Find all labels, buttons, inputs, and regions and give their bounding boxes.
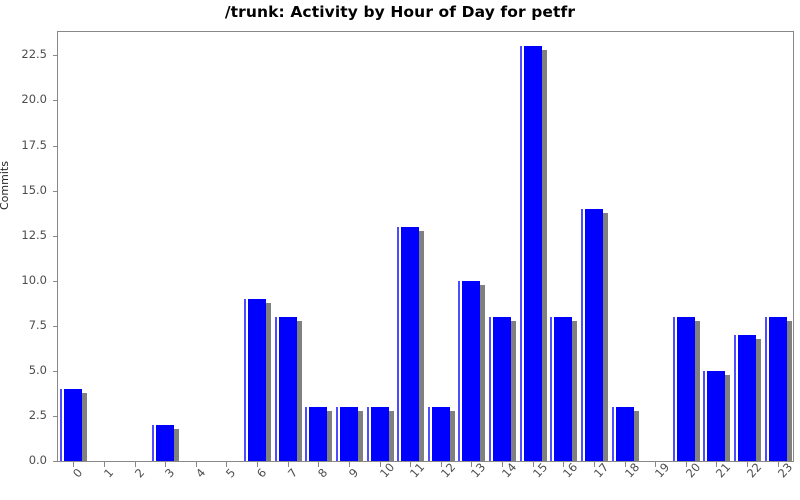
x-axis-tick-label: 0 xyxy=(70,466,85,481)
bar-highlight xyxy=(550,317,552,461)
bar-body xyxy=(401,227,419,461)
y-axis-label: Commits xyxy=(0,161,11,210)
bar-highlight xyxy=(458,281,460,461)
y-axis-tick-label: 15.0 xyxy=(21,183,47,197)
bar[interactable] xyxy=(554,317,577,461)
bar-body xyxy=(156,425,174,461)
x-axis-tick-label: 8 xyxy=(315,466,330,481)
y-axis-tick-mark xyxy=(53,236,57,237)
bar-body xyxy=(432,407,450,461)
bar-highlight xyxy=(520,46,522,461)
bar-body xyxy=(616,407,634,461)
y-axis-tick-label: 17.5 xyxy=(21,138,47,152)
bar[interactable] xyxy=(769,317,792,461)
y-axis-tick-label: 22.5 xyxy=(21,47,47,61)
bar[interactable] xyxy=(156,425,179,461)
y-axis-tick-label: 20.0 xyxy=(21,92,47,106)
y-axis-tick-mark xyxy=(53,326,57,327)
bar-highlight xyxy=(703,371,705,461)
x-axis-tick-label: 9 xyxy=(346,466,361,481)
y-axis-tick-mark xyxy=(53,191,57,192)
y-axis-tick-mark xyxy=(53,371,57,372)
bar-body xyxy=(309,407,327,461)
x-axis-tick-label: 5 xyxy=(223,466,238,481)
x-axis-tick-label: 4 xyxy=(193,466,208,481)
bar-body xyxy=(340,407,358,461)
bar[interactable] xyxy=(64,389,87,461)
y-axis-tick-mark xyxy=(53,461,57,462)
y-axis-tick-label: 12.5 xyxy=(21,228,47,242)
bar[interactable] xyxy=(371,407,394,461)
x-axis-tick-label: 6 xyxy=(254,466,269,481)
bar-body xyxy=(279,317,297,461)
bar-highlight xyxy=(765,317,767,461)
bar-body xyxy=(707,371,725,461)
bar-highlight xyxy=(734,335,736,461)
bar[interactable] xyxy=(707,371,730,461)
bar[interactable] xyxy=(279,317,302,461)
bar-body xyxy=(677,317,695,461)
y-axis-tick-mark xyxy=(53,55,57,56)
x-axis-tick-label: 3 xyxy=(162,466,177,481)
bar[interactable] xyxy=(248,299,271,461)
bar[interactable] xyxy=(432,407,455,461)
bar[interactable] xyxy=(677,317,700,461)
y-axis-tick-label: 7.5 xyxy=(29,318,47,332)
y-axis-tick-mark xyxy=(53,416,57,417)
bar-highlight xyxy=(367,407,369,461)
bar-body xyxy=(462,281,480,461)
bar-highlight xyxy=(673,317,675,461)
bar-body xyxy=(64,389,82,461)
bar-highlight xyxy=(275,317,277,461)
bar-highlight xyxy=(305,407,307,461)
x-axis-tick-label: 1 xyxy=(101,466,116,481)
bar-highlight xyxy=(489,317,491,461)
y-axis-tick-label: 10.0 xyxy=(21,273,47,287)
bar[interactable] xyxy=(738,335,761,461)
bar[interactable] xyxy=(493,317,516,461)
bar-highlight xyxy=(244,299,246,461)
y-axis-tick-label: 2.5 xyxy=(29,408,47,422)
bar-body xyxy=(493,317,511,461)
bar[interactable] xyxy=(401,227,424,461)
bar-highlight xyxy=(60,389,62,461)
chart-page: /trunk: Activity by Hour of Day for petf… xyxy=(0,0,800,500)
bar-series xyxy=(58,32,793,461)
bar-body xyxy=(371,407,389,461)
y-axis-tick-label: 5.0 xyxy=(29,363,47,377)
bar-highlight xyxy=(612,407,614,461)
y-axis-tick-mark xyxy=(53,100,57,101)
y-axis-tick-label: 0.0 xyxy=(29,453,47,467)
bar-body xyxy=(554,317,572,461)
bar[interactable] xyxy=(340,407,363,461)
y-axis-tick-mark xyxy=(53,146,57,147)
bar[interactable] xyxy=(616,407,639,461)
bar[interactable] xyxy=(585,209,608,461)
x-axis-tick-label: 7 xyxy=(285,466,300,481)
bar-body xyxy=(248,299,266,461)
bar-highlight xyxy=(336,407,338,461)
bar-body xyxy=(524,46,542,461)
bar[interactable] xyxy=(309,407,332,461)
bar-body xyxy=(585,209,603,461)
x-axis-tick-label: 2 xyxy=(132,466,147,481)
y-axis-tick-mark xyxy=(53,281,57,282)
bar-highlight xyxy=(428,407,430,461)
bar[interactable] xyxy=(524,46,547,461)
bar[interactable] xyxy=(462,281,485,461)
bar-highlight xyxy=(581,209,583,461)
bar-body xyxy=(738,335,756,461)
page-title: /trunk: Activity by Hour of Day for petf… xyxy=(0,3,800,21)
bar-body xyxy=(769,317,787,461)
bar-highlight xyxy=(152,425,154,461)
bar-highlight xyxy=(397,227,399,461)
